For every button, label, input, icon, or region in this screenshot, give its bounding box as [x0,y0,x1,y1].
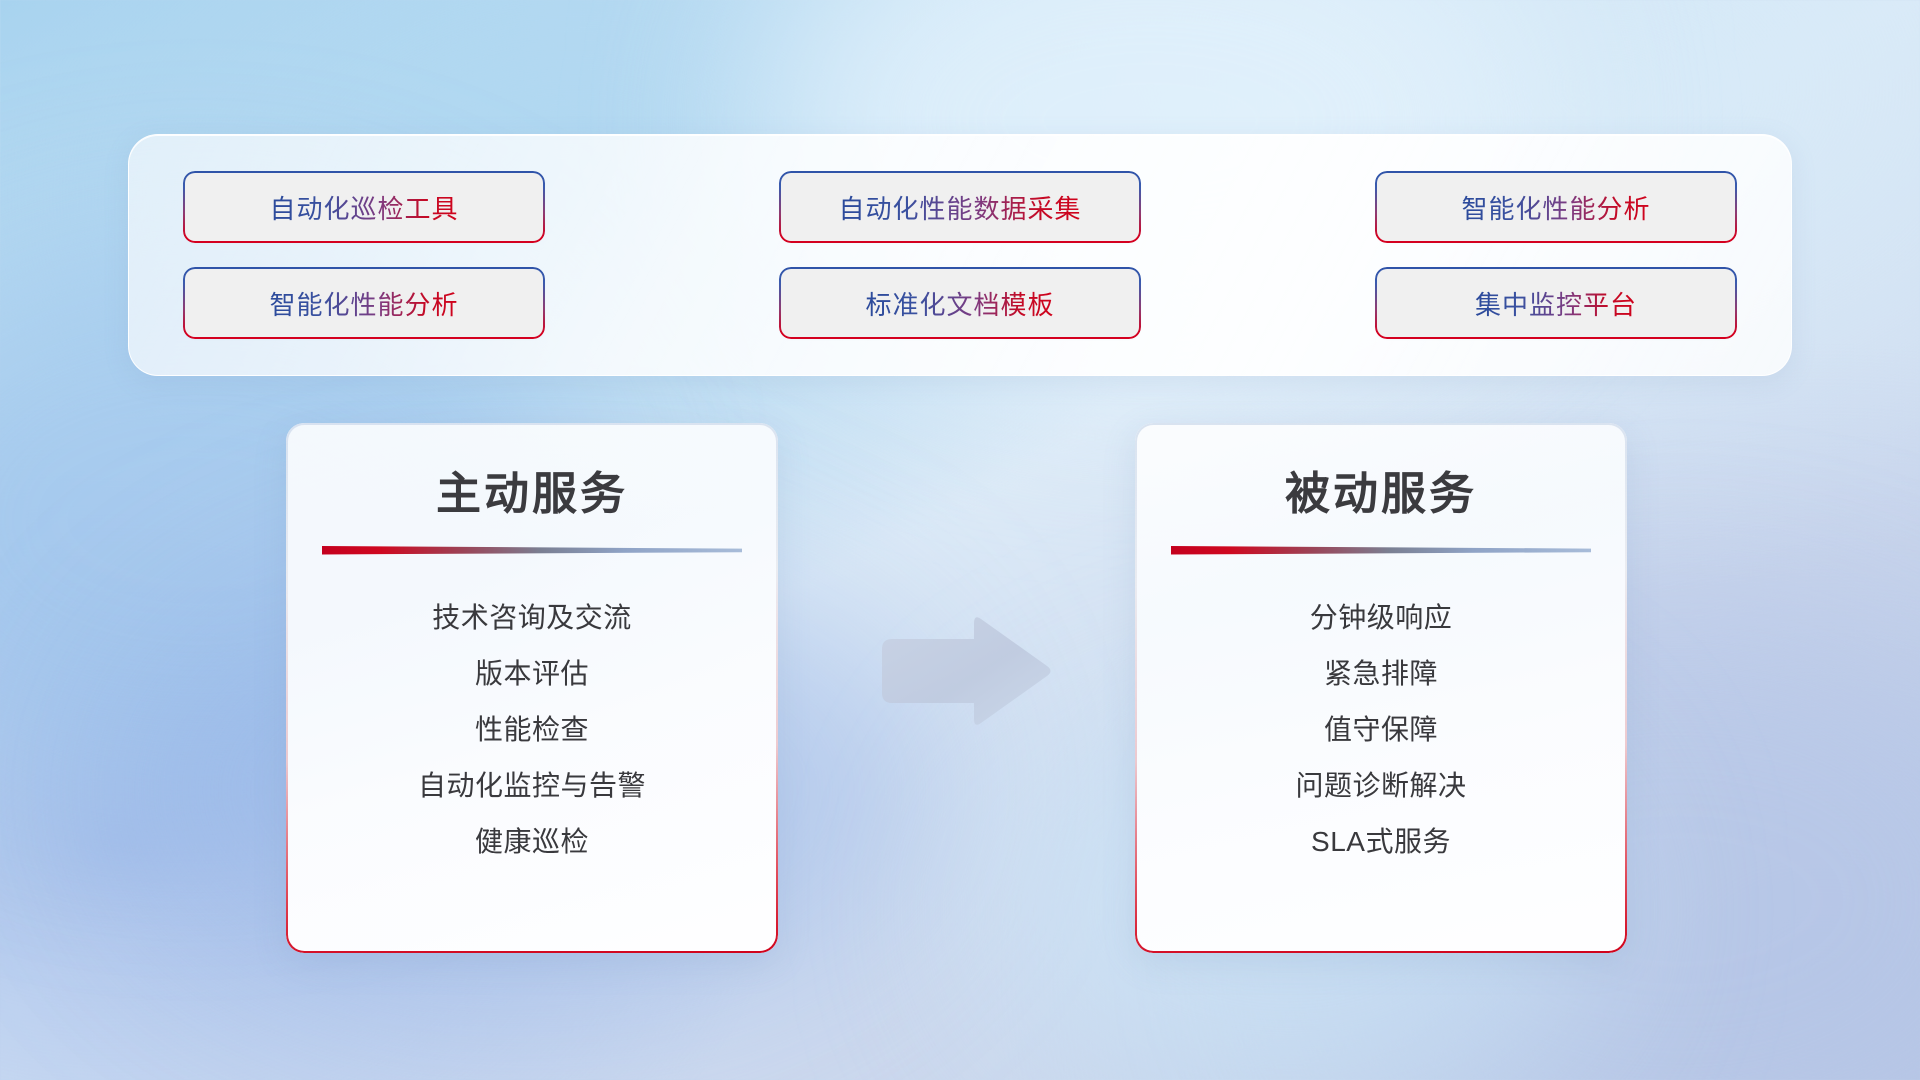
card-title: 被动服务 [1165,457,1597,522]
card-divider [1171,544,1591,556]
service-list: 分钟级响应 紧急排障 值守保障 问题诊断解决 SLA式服务 [1165,590,1597,870]
capability-pill-label: 集中监控平台 [1475,285,1637,322]
list-item: 分钟级响应 [1165,590,1597,646]
capability-pill[interactable]: 自动化性能数据采集 [781,173,1139,241]
capability-pill[interactable]: 集中监控平台 [1377,269,1735,337]
list-item: 值守保障 [1165,702,1597,758]
capability-pill-label: 智能化性能分析 [269,285,458,322]
capability-pill-label: 自动化巡检工具 [269,189,458,226]
capability-pill-label: 智能化性能分析 [1461,189,1650,226]
capability-row: 智能化性能分析 标准化文档模板 集中监控平台 [185,269,1735,337]
capability-pill[interactable]: 标准化文档模板 [781,269,1139,337]
list-item: SLA式服务 [1165,814,1597,870]
card-divider [322,544,742,556]
arrow-right-icon [874,615,1052,725]
list-item: 问题诊断解决 [1165,758,1597,814]
list-item: 紧急排障 [1165,646,1597,702]
list-item: 技术咨询及交流 [316,590,748,646]
capability-pill[interactable]: 智能化性能分析 [185,269,543,337]
list-item: 健康巡检 [316,814,748,870]
list-item: 性能检查 [316,702,748,758]
list-item: 版本评估 [316,646,748,702]
card-title: 主动服务 [316,457,748,522]
list-item: 自动化监控与告警 [316,758,748,814]
service-list: 技术咨询及交流 版本评估 性能检查 自动化监控与告警 健康巡检 [316,590,748,870]
capability-pill[interactable]: 自动化巡检工具 [185,173,543,241]
capability-pill-label: 标准化文档模板 [865,285,1054,322]
service-card-proactive: 主动服务 技术咨询及交流 版本评估 性能检查 自动化监控与告警 健康巡检 [286,423,778,953]
capability-row: 自动化巡检工具 自动化性能数据采集 智能化性能分析 [185,173,1735,241]
capabilities-panel: 自动化巡检工具 自动化性能数据采集 智能化性能分析 智能化性能分析 标准化文档模… [128,134,1792,376]
capability-pill[interactable]: 智能化性能分析 [1377,173,1735,241]
service-card-reactive: 被动服务 分钟级响应 紧急排障 值守保障 问题诊断解决 SLA式服务 [1135,423,1627,953]
capability-pill-label: 自动化性能数据采集 [838,189,1081,226]
